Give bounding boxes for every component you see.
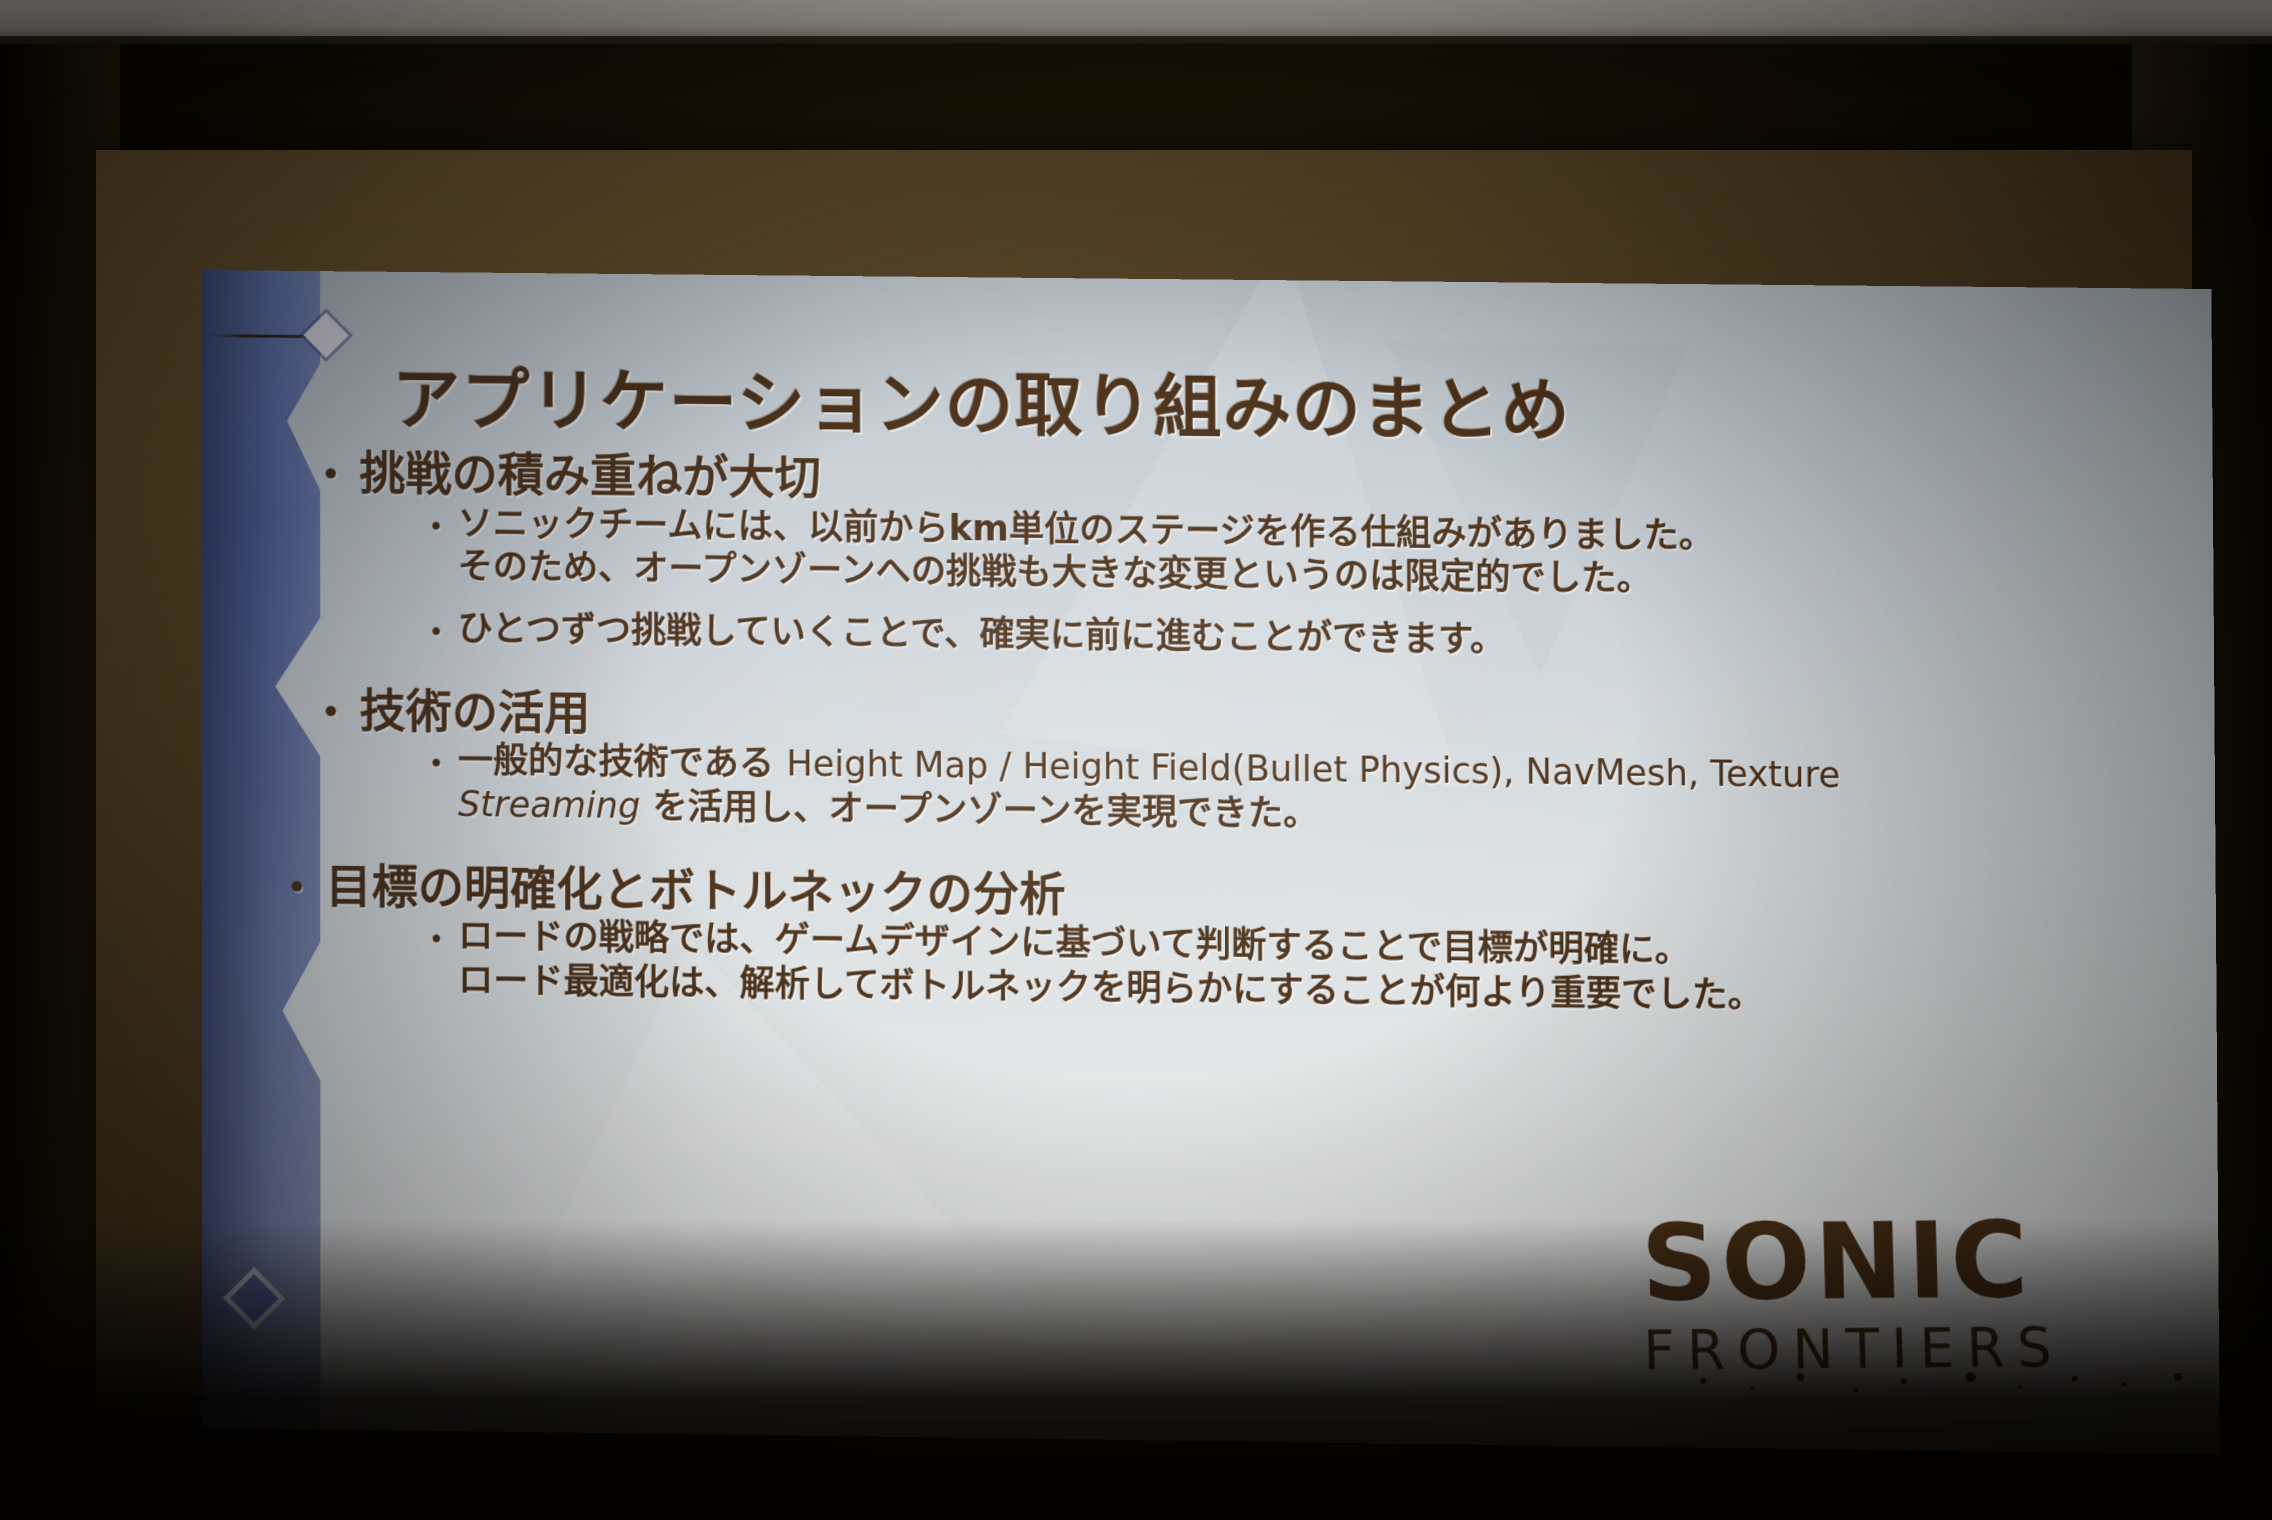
bullet-glyph-icon: •: [320, 457, 341, 493]
sub-point-prefix: 一般的な技術である: [458, 741, 786, 785]
sub-point-text: 一般的な技術である Height Map / Height Field(Bull…: [458, 740, 1841, 844]
sub-point-text: ロードの戦略では、ゲームデザインに基づいて判断することで目標が明確に。 ロード最…: [458, 916, 1763, 1020]
bullet-glyph-icon: •: [429, 927, 444, 953]
bullet-glyph-icon: •: [428, 620, 443, 646]
bullet-glyph-icon: •: [286, 870, 307, 906]
photograph-of-projected-slide: アプリケーションの取り組みのまとめ • 挑戦の積み重ねが大切 • ソニックチーム…: [0, 0, 2272, 1520]
tech-terms-line-1: Height Map / Height Field(Bullet Physics…: [786, 744, 1840, 796]
sub-point-row: • ソニックチームには、以前からkm単位のステージを作る仕組みがありました。 そ…: [202, 500, 2214, 609]
bullet-glyph-icon: •: [429, 752, 444, 778]
floor-shadow: [0, 1220, 2272, 1520]
sub-point-text: ソニックチームには、以前からkm単位のステージを作る仕組みがありました。 そのた…: [458, 502, 1715, 603]
section-heading-2: 技術の活用: [360, 685, 591, 739]
slide-body: • 挑戦の積み重ねが大切 • ソニックチームには、以前からkm単位のステージを作…: [202, 446, 2217, 1029]
slide-title: アプリケーションの取り組みのまとめ: [392, 344, 1571, 455]
bullet-glyph-icon: •: [428, 514, 443, 540]
tech-terms-line-2: Streaming: [458, 785, 640, 827]
bullet-glyph-icon: •: [320, 695, 341, 731]
section-heading-3: 目標の明確化とボトルネックの分析: [326, 860, 1066, 920]
section-heading-1: 挑戦の積み重ねが大切: [359, 448, 821, 504]
sub-point-suffix: を活用し、オープンゾーンを実現できた。: [640, 787, 1318, 835]
